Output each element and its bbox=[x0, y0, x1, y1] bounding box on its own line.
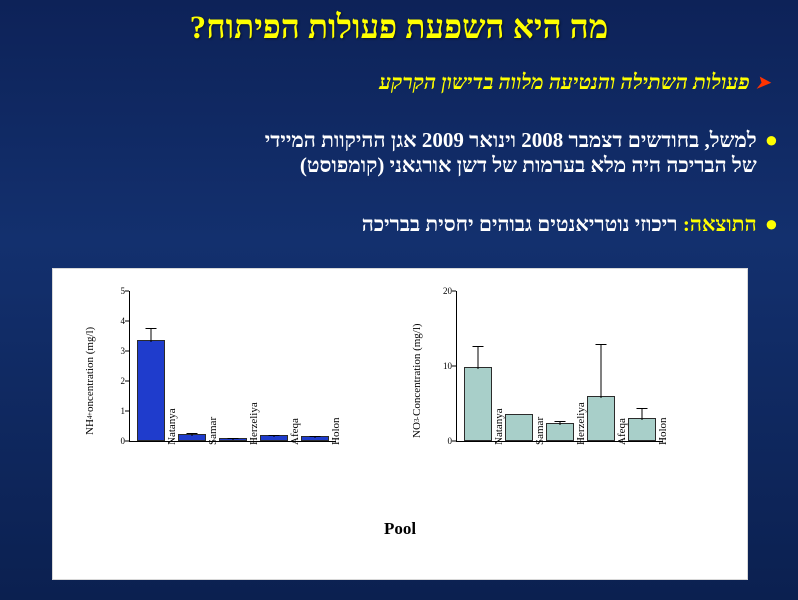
no3-error-bar-cap bbox=[555, 421, 566, 422]
nh4-x-label-slot: Afeqa bbox=[275, 443, 316, 517]
no3-error-bar bbox=[560, 422, 561, 426]
nh4-y-ticks: 012345 bbox=[103, 291, 129, 441]
bullet-item-2-prefix: התוצאה: bbox=[683, 212, 757, 236]
no3-x-tick-label: Natanya bbox=[493, 408, 505, 445]
bullet-level1: ➤פעולות השתילה והנטיעה מלווה בדישון הקרק… bbox=[30, 70, 770, 95]
no3-bar bbox=[546, 423, 574, 441]
nh4-x-tick-label: Holon bbox=[330, 418, 342, 446]
no3-error-bar-cap bbox=[472, 346, 483, 347]
nh4-y-axis-label-sub: 4 bbox=[86, 416, 94, 420]
slide: מה היא השפעת פעולות הפיתוח? ➤פעולות השתי… bbox=[0, 0, 798, 600]
no3-error-bar bbox=[477, 347, 478, 370]
bullet-item-2-rest: ריכוזי נוטריאנטים גבוהים יחסית בבריכה bbox=[362, 212, 683, 236]
no3-y-axis-label: NO3- Concentration (mg/l) bbox=[408, 291, 426, 471]
nh4-plot bbox=[129, 291, 336, 442]
nh4-y-axis-label-base: NH bbox=[84, 419, 96, 435]
no3-plot bbox=[456, 291, 663, 442]
bullet-item-2: ●התוצאה: ריכוזי נוטריאנטים גבוהים יחסית … bbox=[8, 212, 778, 237]
no3-error-bar-cap bbox=[637, 408, 648, 409]
no3-chart: NO3- Concentration (mg/l) 01020 NatanyaS… bbox=[408, 291, 698, 519]
no3-x-label-slot: Natanya bbox=[478, 443, 519, 517]
nh4-bar bbox=[137, 340, 165, 441]
no3-x-tick-label: Holon bbox=[657, 418, 669, 446]
no3-error-bar bbox=[601, 345, 602, 398]
no3-y-tick-label: 10 bbox=[443, 361, 452, 371]
nh4-error-bar bbox=[150, 329, 151, 343]
nh4-error-bar-cap bbox=[145, 328, 156, 329]
nh4-x-labels: NatanyaSamarHerzeliyaAfeqaHolon bbox=[151, 443, 357, 517]
x-axis-title: Pool bbox=[53, 519, 747, 539]
nh4-bars bbox=[130, 291, 336, 441]
nh4-error-bar-cap bbox=[310, 436, 321, 437]
no3-x-label-slot: Herzeliya bbox=[560, 443, 601, 517]
nh4-error-bar-cap bbox=[186, 433, 197, 434]
no3-y-axis-label-sub: 3 bbox=[413, 419, 421, 423]
figure-panel: NH4+ oncentration (mg/l) 012345 NatanyaS… bbox=[52, 268, 748, 580]
bullet-dot-icon: ● bbox=[765, 211, 778, 236]
no3-bar bbox=[505, 414, 533, 442]
no3-error-bar-cap bbox=[596, 344, 607, 345]
bullet-item-1-body: למשל, בחודשים דצמבר 2008 וינואר 2009 אגן… bbox=[27, 128, 757, 178]
page-title: מה היא השפעת פעולות הפיתוח? bbox=[0, 10, 798, 47]
bullet-item-1-line1: למשל, בחודשים דצמבר 2008 וינואר 2009 אגן… bbox=[265, 128, 757, 152]
nh4-x-tick-label: Samar bbox=[207, 417, 219, 445]
no3-error-bar bbox=[642, 409, 643, 420]
nh4-x-tick-label: Afeqa bbox=[289, 418, 301, 445]
nh4-x-label-slot: Natanya bbox=[151, 443, 192, 517]
nh4-x-label-slot: Herzeliya bbox=[233, 443, 274, 517]
nh4-error-bar bbox=[274, 436, 275, 438]
no3-y-axis-label-rest: Concentration (mg/l) bbox=[411, 324, 423, 417]
no3-x-labels: NatanyaSamarHerzeliyaAfeqaHolon bbox=[478, 443, 684, 517]
nh4-y-axis-label-rest: oncentration (mg/l) bbox=[84, 327, 96, 412]
no3-bars bbox=[457, 291, 663, 441]
nh4-y-axis-label-sup: + bbox=[86, 412, 94, 416]
no3-y-axis-label-base: NO bbox=[411, 422, 423, 438]
nh4-plot-area: 012345 NatanyaSamarHerzeliyaAfeqaHolon bbox=[103, 291, 343, 471]
no3-bar bbox=[587, 396, 615, 442]
no3-x-label-slot: Holon bbox=[643, 443, 684, 517]
no3-bar bbox=[628, 418, 656, 441]
nh4-x-tick-label: Natanya bbox=[166, 408, 178, 445]
nh4-x-tick-label: Herzeliya bbox=[248, 402, 260, 445]
no3-x-tick-label: Herzeliya bbox=[575, 402, 587, 445]
no3-x-label-slot: Samar bbox=[519, 443, 560, 517]
nh4-error-bar-cap bbox=[269, 435, 280, 436]
no3-y-tick-label: 20 bbox=[443, 286, 452, 296]
nh4-error-bar bbox=[233, 439, 234, 440]
no3-plot-area: 01020 NatanyaSamarHerzeliyaAfeqaHolon bbox=[430, 291, 670, 471]
nh4-chart: NH4+ oncentration (mg/l) 012345 NatanyaS… bbox=[81, 291, 371, 519]
bullet-item-1-line2: של הבריכה היה מלא בערמות של דשן אורגאני … bbox=[300, 153, 757, 177]
bullet-dot-icon: ● bbox=[765, 127, 778, 152]
no3-x-tick-label: Samar bbox=[534, 417, 546, 445]
no3-y-ticks: 01020 bbox=[430, 291, 456, 441]
no3-x-label-slot: Afeqa bbox=[602, 443, 643, 517]
no3-y-axis-label-sup: - bbox=[413, 416, 421, 418]
arrow-bullet-icon: ➤ bbox=[756, 73, 770, 92]
bullet-item-1: ●למשל, בחודשים דצמבר 2008 וינואר 2009 אג… bbox=[8, 128, 778, 178]
nh4-error-bar bbox=[315, 437, 316, 439]
nh4-error-bar bbox=[191, 434, 192, 436]
nh4-x-label-slot: Holon bbox=[316, 443, 357, 517]
no3-bar bbox=[464, 367, 492, 441]
nh4-x-label-slot: Samar bbox=[192, 443, 233, 517]
bullet-item-2-body: התוצאה: ריכוזי נוטריאנטים גבוהים יחסית ב… bbox=[27, 212, 757, 237]
nh4-y-axis-label: NH4+ oncentration (mg/l) bbox=[81, 291, 99, 471]
no3-x-tick-label: Afeqa bbox=[616, 418, 628, 445]
bullet-level1-text: פעולות השתילה והנטיעה מלווה בדישון הקרקע bbox=[379, 70, 749, 94]
charts-row: NH4+ oncentration (mg/l) 012345 NatanyaS… bbox=[53, 269, 747, 519]
nh4-error-bar-cap bbox=[228, 438, 239, 439]
